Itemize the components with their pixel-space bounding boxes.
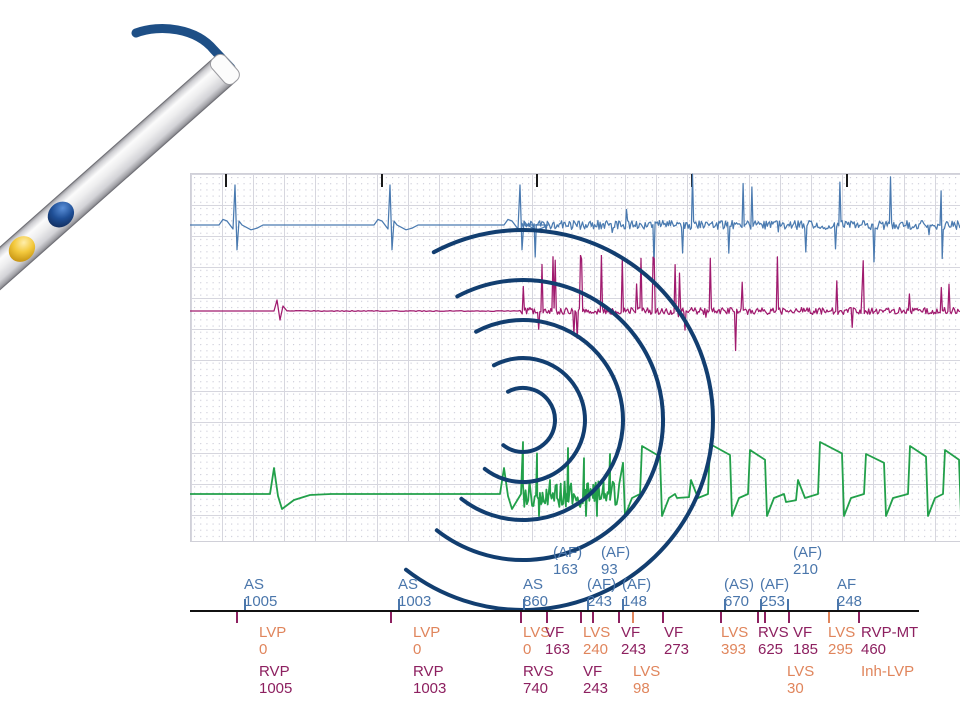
ventricular-marker-annotation: LVS98 — [633, 664, 660, 698]
annotation-value: 295 — [828, 642, 855, 659]
ventricular-marker-annotation: RVS740 — [523, 664, 554, 698]
ventricular-marker-tick[interactable] — [618, 612, 620, 623]
annotation-value: 185 — [793, 642, 818, 659]
annotation-label: AF — [837, 577, 862, 594]
annotation-label: RVS — [523, 664, 554, 681]
annotation-value: 393 — [721, 642, 748, 659]
grid-top-tick — [381, 174, 383, 187]
annotation-label: VF — [545, 625, 570, 642]
annotation-label: LVS — [583, 625, 610, 642]
wand-collar — [208, 51, 243, 87]
annotation-label: AS — [523, 577, 548, 594]
ventricular-marker-tick[interactable] — [236, 612, 238, 623]
grid-top-tick — [691, 174, 693, 187]
annotation-value: 253 — [760, 594, 789, 611]
ventricular-marker-tick[interactable] — [858, 612, 860, 623]
annotation-value: 860 — [523, 594, 548, 611]
annotation-label: (AF) — [601, 545, 630, 562]
annotation-label: (AF) — [793, 545, 822, 562]
ventricular-marker-annotation: VF243 — [621, 625, 646, 659]
ventricular-marker-tick[interactable] — [828, 612, 830, 623]
annotation-label: (AF) — [760, 577, 789, 594]
marker-channel-panel: AS1005AS1003AS860(AF)163(AF)243(AF)93(AF… — [0, 540, 960, 720]
ventricular-marker-annotation: VF163 — [545, 625, 570, 659]
ecg-grid-panel — [190, 173, 960, 542]
ventricular-marker-annotation: VF273 — [664, 625, 689, 659]
ventricular-marker-annotation: LVP0 — [413, 625, 440, 659]
annotation-label: LVS — [828, 625, 855, 642]
atrial-marker-annotation: AF248 — [837, 577, 862, 611]
grid-top-tick — [846, 174, 848, 187]
annotation-label: LVP — [259, 625, 286, 642]
annotation-label: VF — [621, 625, 646, 642]
wand-cable-icon — [136, 29, 231, 68]
annotation-label: LVS — [721, 625, 748, 642]
ventricular-marker-annotation: LVP0 — [259, 625, 286, 659]
atrial-marker-annotation: (AS)670 — [724, 577, 754, 611]
annotation-value: 740 — [523, 681, 554, 698]
annotation-value: 1003 — [398, 594, 431, 611]
screenshot-root: AS1005AS1003AS860(AF)163(AF)243(AF)93(AF… — [0, 0, 960, 720]
atrial-marker-annotation: (AF)253 — [760, 577, 789, 611]
atrial-marker-annotation: (AF)210 — [793, 545, 822, 579]
marker-timeline-axis — [190, 610, 919, 612]
annotation-label: RVP — [413, 664, 446, 681]
atrial-marker-annotation: (AF)148 — [622, 577, 651, 611]
ventricular-marker-tick[interactable] — [592, 612, 594, 623]
annotation-label: LVP — [413, 625, 440, 642]
ventricular-marker-annotation: RVP-MT460 — [861, 625, 918, 659]
grid-top-tick — [536, 174, 538, 187]
ventricular-marker-tick[interactable] — [757, 612, 759, 623]
annotation-value: 1005 — [244, 594, 277, 611]
atrial-marker-annotation: (AF)163 — [553, 545, 582, 579]
annotation-value: 148 — [622, 594, 651, 611]
annotation-value: 1003 — [413, 681, 446, 698]
annotation-label: (AF) — [587, 577, 616, 594]
annotation-value: 163 — [553, 562, 582, 579]
grid-top-tick — [225, 174, 227, 187]
ventricular-marker-annotation: RVP1003 — [413, 664, 446, 698]
ventricular-marker-annotation: LVS30 — [787, 664, 814, 698]
ventricular-marker-tick[interactable] — [788, 612, 790, 623]
ventricular-marker-tick[interactable] — [520, 612, 522, 623]
annotation-value: 243 — [587, 594, 616, 611]
annotation-label: AS — [398, 577, 431, 594]
annotation-value: 210 — [793, 562, 822, 579]
annotation-label: RVP — [259, 664, 292, 681]
annotation-value: 248 — [837, 594, 862, 611]
ventricular-marker-annotation: LVS393 — [721, 625, 748, 659]
annotation-value: 625 — [758, 642, 789, 659]
wand-button-yellow-icon — [4, 231, 41, 268]
ventricular-marker-annotation: Inh-LVP — [861, 664, 914, 681]
annotation-label: VF — [583, 664, 608, 681]
atrial-marker-annotation: AS1005 — [244, 577, 277, 611]
annotation-label: Inh-LVP — [861, 664, 914, 681]
annotation-value: 460 — [861, 642, 918, 659]
atrial-marker-annotation: AS860 — [523, 577, 548, 611]
annotation-value: 240 — [583, 642, 610, 659]
annotation-label: VF — [793, 625, 818, 642]
ventricular-marker-tick[interactable] — [580, 612, 582, 623]
annotation-label: RVS — [758, 625, 789, 642]
ventricular-marker-tick[interactable] — [720, 612, 722, 623]
atrial-marker-annotation: (AF)93 — [601, 545, 630, 579]
annotation-label: VF — [664, 625, 689, 642]
annotation-value: 243 — [583, 681, 608, 698]
annotation-value: 1005 — [259, 681, 292, 698]
ventricular-marker-annotation: VF185 — [793, 625, 818, 659]
annotation-label: AS — [244, 577, 277, 594]
ventricular-marker-annotation: VF243 — [583, 664, 608, 698]
annotation-label: LVS — [633, 664, 660, 681]
ventricular-marker-tick[interactable] — [390, 612, 392, 623]
annotation-value: 30 — [787, 681, 814, 698]
ventricular-marker-tick[interactable] — [632, 612, 634, 623]
annotation-value: 163 — [545, 642, 570, 659]
annotation-label: (AS) — [724, 577, 754, 594]
annotation-label: LVS — [787, 664, 814, 681]
annotation-value: 670 — [724, 594, 754, 611]
annotation-value: 0 — [413, 642, 440, 659]
annotation-value: 98 — [633, 681, 660, 698]
atrial-marker-annotation: (AF)243 — [587, 577, 616, 611]
ventricular-marker-tick[interactable] — [546, 612, 548, 623]
annotation-label: (AF) — [622, 577, 651, 594]
wand-button-blue-icon — [42, 196, 79, 233]
ventricular-marker-annotation: LVS240 — [583, 625, 610, 659]
annotation-label: RVP-MT — [861, 625, 918, 642]
annotation-value: 0 — [259, 642, 286, 659]
ventricular-marker-annotation: RVS625 — [758, 625, 789, 659]
annotation-label: (AF) — [553, 545, 582, 562]
atrial-marker-annotation: AS1003 — [398, 577, 431, 611]
ventricular-marker-tick[interactable] — [662, 612, 664, 623]
ventricular-marker-annotation: RVP1005 — [259, 664, 292, 698]
annotation-value: 273 — [664, 642, 689, 659]
ventricular-marker-annotation: LVS295 — [828, 625, 855, 659]
annotation-value: 243 — [621, 642, 646, 659]
ventricular-marker-tick[interactable] — [764, 612, 766, 623]
